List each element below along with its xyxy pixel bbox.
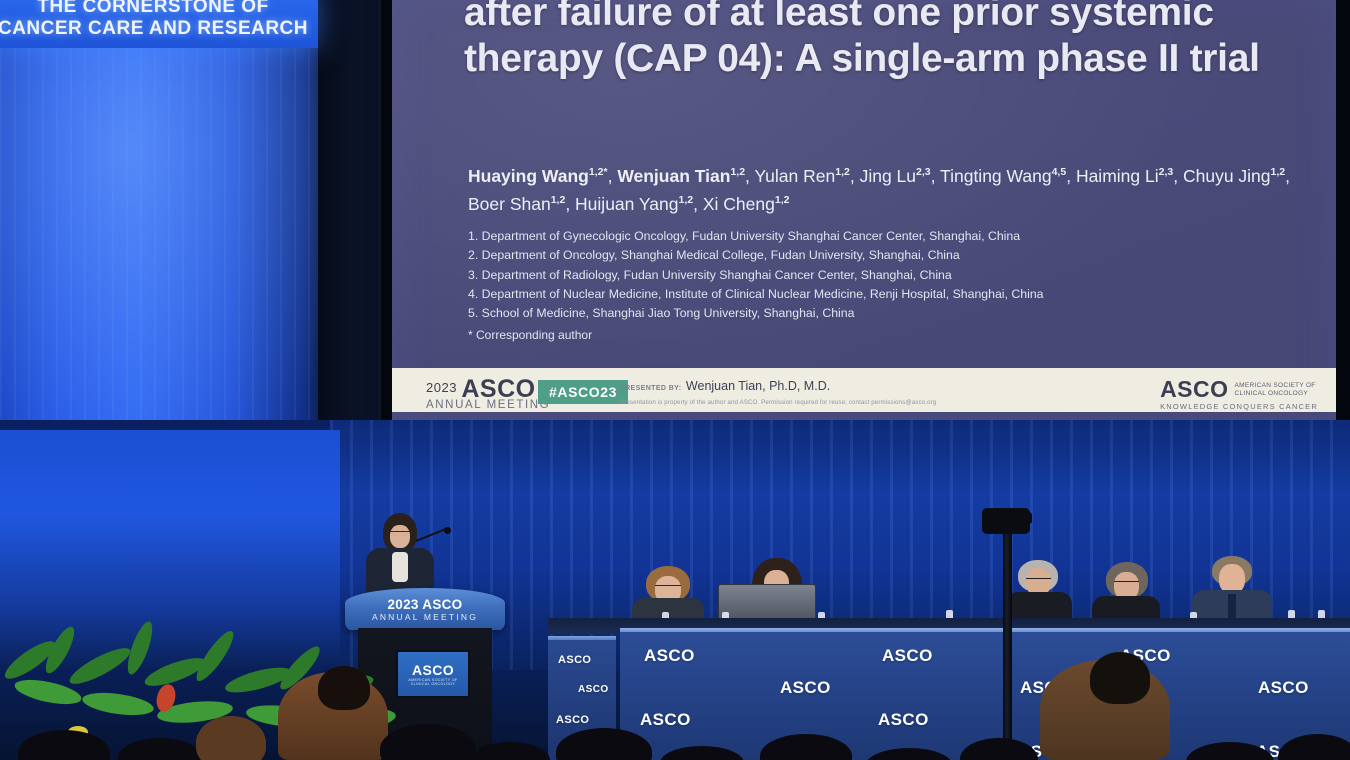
author-sep: , <box>850 166 860 186</box>
audience-head <box>866 748 952 760</box>
audience-head <box>960 738 1038 760</box>
author-name: Chuyu Jing1,2 <box>1183 166 1285 186</box>
author-sep: , <box>565 194 575 214</box>
venue-banner: THE CORNERSTONE OF CANCER CARE AND RESEA… <box>0 0 318 48</box>
asco-annual-meeting-logo: 2023 ASCO ANNUAL MEETING <box>426 375 550 411</box>
audience-silhouettes <box>0 690 1350 760</box>
asco-society-name: AMERICAN SOCIETY OF CLINICAL ONCOLOGY <box>1235 382 1316 398</box>
author-sep: , <box>1285 166 1290 186</box>
slide-footer-bar: 2023 ASCO ANNUAL MEETING #ASCO23 PRESENT… <box>392 368 1336 412</box>
asco-society-wordmark: ASCO <box>1160 376 1228 403</box>
audience-head <box>1186 742 1274 760</box>
author-name: Boer Shan1,2 <box>468 194 565 214</box>
audience-head <box>660 746 744 760</box>
audience-head <box>1278 734 1350 760</box>
table-watermark: ASCO <box>644 646 695 666</box>
slide-title-line-2: therapy (CAP 04): A single-arm phase II … <box>464 36 1294 82</box>
asco-society-logo-row: ASCO AMERICAN SOCIETY OF CLINICAL ONCOLO… <box>1160 376 1318 403</box>
asco-society-line1: AMERICAN SOCIETY OF <box>1235 382 1316 389</box>
author-name: Jing Lu2,3 <box>860 166 931 186</box>
slide-title: advanced or recurrent endometrial cancer… <box>464 0 1294 82</box>
panelist-5-tie <box>1228 594 1236 620</box>
author-name: Tingting Wang4,5 <box>940 166 1066 186</box>
asco-society-logo: ASCO AMERICAN SOCIETY OF CLINICAL ONCOLO… <box>1160 376 1318 411</box>
venue-banner-line2: CANCER CARE AND RESEARCH <box>0 18 318 40</box>
audience-head <box>196 716 266 760</box>
author-sep: , <box>1066 166 1076 186</box>
projection-screen: advanced or recurrent endometrial cancer… <box>392 0 1336 420</box>
hashtag-badge: #ASCO23 <box>538 380 628 404</box>
asco-society-line2: CLINICAL ONCOLOGY <box>1235 390 1309 397</box>
permission-note: Presentation is property of the author a… <box>620 399 936 406</box>
audience-head <box>470 742 550 760</box>
audience-head <box>760 734 852 760</box>
author-name: Xi Cheng1,2 <box>703 194 790 214</box>
author-sep: , <box>608 166 618 186</box>
podium-microphone-head <box>444 527 451 534</box>
affiliation-item: 4. Department of Nuclear Medicine, Insti… <box>468 285 1168 304</box>
audience-head <box>18 730 110 760</box>
affiliation-item: 2. Department of Oncology, Shanghai Medi… <box>468 246 1168 265</box>
speaker-glasses <box>390 531 410 537</box>
author-name: Huijuan Yang1,2 <box>575 194 693 214</box>
panelist-1-glasses <box>655 585 681 590</box>
author-sep: , <box>1173 166 1183 186</box>
corresponding-author-note: * Corresponding author <box>468 326 1168 345</box>
author-sep: , <box>693 194 703 214</box>
author-name: Haiming Li2,3 <box>1076 166 1173 186</box>
table-watermark: ASCO <box>882 646 933 666</box>
conference-stage-photo: THE CORNERSTONE OF CANCER CARE AND RESEA… <box>0 0 1350 760</box>
affiliation-item: 3. Department of Radiology, Fudan Univer… <box>468 266 1168 285</box>
author-name-primary: Huaying Wang1,2* <box>468 166 608 186</box>
presented-by-label: PRESENTED BY: <box>620 385 681 392</box>
audience-head <box>380 724 476 760</box>
slide-affiliations: 1. Department of Gynecologic Oncology, F… <box>468 227 1168 346</box>
presenter-block: PRESENTED BY: Wenjuan Tian, Ph.D, M.D. P… <box>620 377 936 406</box>
asco-logo-meeting: ANNUAL MEETING <box>426 399 550 411</box>
audience-head <box>118 738 202 760</box>
panelist-4-glasses <box>1114 581 1139 586</box>
venue-banner-line1: THE CORNERSTONE OF <box>0 0 318 18</box>
podium-wordmark: 2023 ASCO <box>345 597 505 612</box>
video-camera <box>982 508 1030 534</box>
slide-title-line-1: after failure of at least one prior syst… <box>464 0 1294 36</box>
table-watermark: ASCO <box>558 654 591 666</box>
affiliation-item: 1. Department of Gynecologic Oncology, F… <box>468 227 1168 246</box>
speaker-shirt <box>392 552 408 582</box>
author-name-secondary: Wenjuan Tian1,2 <box>617 166 745 186</box>
presenter-name: Wenjuan Tian, Ph.D, M.D. <box>686 379 830 393</box>
affiliation-item: 5. School of Medicine, Shanghai Jiao Ton… <box>468 304 1168 323</box>
asco-logo-year: 2023 <box>426 380 457 395</box>
author-name: Yulan Ren1,2 <box>754 166 849 186</box>
audience-head <box>556 728 652 760</box>
asco-tagline: KNOWLEDGE CONQUERS CANCER <box>1160 402 1318 411</box>
slide-author-list: Huaying Wang1,2*, Wenjuan Tian1,2, Yulan… <box>468 160 1336 216</box>
panelist-3-glasses <box>1026 578 1051 583</box>
author-sep: , <box>931 166 940 186</box>
